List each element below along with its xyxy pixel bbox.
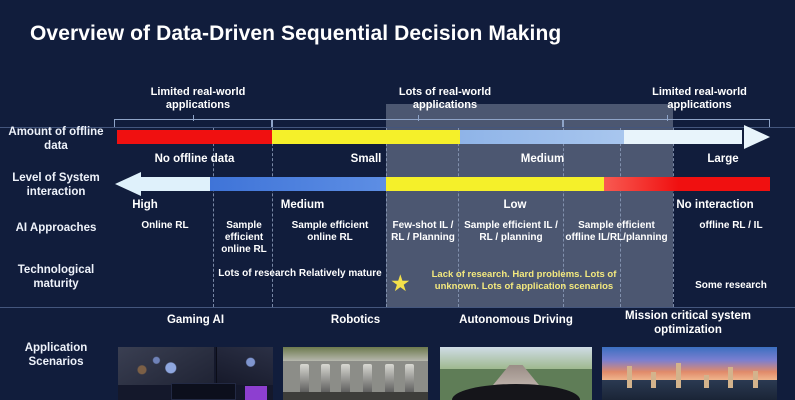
ai-approach-cell-2: Sample efficient online RL [215, 220, 273, 256]
offline-label-small: Small [272, 153, 460, 165]
arrow-head [744, 125, 770, 149]
thumbnail-gaming-screenshot [118, 347, 273, 400]
interaction-label-no-interaction: No interaction [650, 199, 780, 211]
ai-approach-cell-1: Online RL [117, 220, 213, 232]
ai-approach-cell-7: offline RL / IL [676, 220, 786, 232]
thumb-part [245, 386, 267, 400]
tech-maturity-highlight-note: Lack of research. Hard problems. Lots of… [413, 269, 635, 293]
offline-label-medium: Medium [460, 153, 625, 165]
divider-bottom [0, 307, 795, 308]
ai-approach-cell-5: Sample efficient IL / RL / planning [460, 220, 562, 244]
interaction-segment-medium [210, 177, 386, 191]
thumb-part [704, 375, 709, 389]
thumb-part [283, 392, 428, 400]
offline-arrow-right [624, 125, 770, 149]
thumb-part [283, 347, 428, 361]
scenario-title-mission: Mission critical system optimization [598, 310, 778, 337]
star-icon: ★ [390, 272, 411, 295]
tech-maturity-left: Lots of research Relatively mature [215, 268, 385, 281]
ai-approach-cell-3: Sample efficient online RL [290, 220, 370, 244]
row-label-ai-approaches: AI Approaches [0, 222, 112, 236]
thumb-part [651, 372, 656, 388]
thumb-part [452, 384, 580, 400]
thumb-part [216, 347, 273, 385]
interaction-label-low: Low [440, 199, 590, 211]
ai-approach-cell-6: Sample efficient offline IL/RL/planning [564, 220, 669, 244]
thumb-part [753, 371, 758, 388]
thumbnail-industrial-plant-photo [602, 347, 777, 400]
bracket-tick [418, 115, 419, 121]
scenario-title-robotics: Robotics [283, 314, 428, 328]
offline-segment-small [272, 130, 460, 144]
arrow-shaft [141, 177, 215, 191]
interaction-label-high: High [110, 199, 180, 211]
thumb-part [171, 383, 236, 400]
ai-approach-cell-4: Few-shot IL / RL / Planning [388, 220, 458, 244]
slide-canvas: Overview of Data-Driven Sequential Decis… [0, 0, 795, 400]
arrow-shaft [624, 130, 742, 144]
interaction-segment-none [604, 177, 770, 191]
bracket-caption-middle: Lots of real-world applications [375, 86, 515, 112]
interaction-arrow-left [115, 172, 215, 196]
scenario-title-gaming: Gaming AI [118, 314, 273, 328]
offline-data-bar [0, 130, 795, 144]
thumbnail-car-dashcam-photo [440, 347, 592, 400]
thumbnail-robot-arms-photo [283, 347, 428, 400]
tech-maturity-right: Some research [676, 280, 786, 293]
bracket-caption-left: Limited real-world applications [128, 86, 268, 112]
arrow-head [115, 172, 141, 196]
interaction-segment-low [386, 177, 604, 191]
bracket-tick [193, 115, 194, 121]
offline-segment-medium [460, 130, 625, 144]
bracket-tick [667, 115, 668, 121]
system-interaction-bar [0, 177, 795, 191]
offline-label-none: No offline data [117, 153, 272, 165]
row-label-application-scenarios: Application Scenarios [0, 342, 112, 369]
offline-segment-none [117, 130, 272, 144]
thumb-part [676, 363, 681, 388]
page-title: Overview of Data-Driven Sequential Decis… [30, 22, 561, 46]
thumb-part [118, 347, 214, 385]
offline-label-large: Large [673, 153, 773, 165]
interaction-label-medium: Medium [230, 199, 375, 211]
bracket-caption-right: Limited real-world applications [627, 86, 772, 112]
thumb-part [728, 367, 733, 388]
thumb-part [627, 366, 632, 388]
row-label-technological-maturity: Technological maturity [0, 264, 112, 291]
scenario-title-driving: Autonomous Driving [440, 314, 592, 328]
